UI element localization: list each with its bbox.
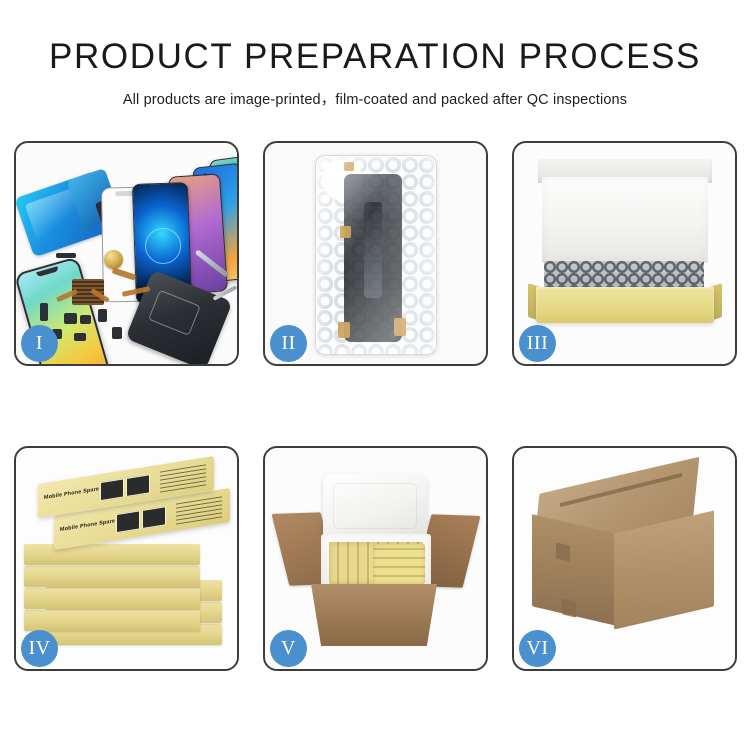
- step-badge-4: IV: [21, 630, 58, 667]
- camera-lens-icon: [104, 250, 123, 269]
- process-step-panel-3: III Open kraft box with white foam sheet…: [512, 141, 737, 366]
- stacked-box-icon: [24, 588, 200, 609]
- inner-kraft-boxes-icon: [373, 544, 425, 584]
- small-component-icon: [40, 303, 48, 321]
- carton-front-icon: [311, 584, 437, 646]
- box-spec-lines-icon: [160, 463, 206, 492]
- page-title: PRODUCT PREPARATION PROCESS: [0, 38, 750, 77]
- step-badge-2: II: [270, 325, 307, 362]
- box-spec-lines-icon: [176, 495, 222, 524]
- step-badge-1: I: [21, 325, 58, 362]
- bubble-wrap-bag-icon: [315, 155, 437, 355]
- stacked-box-icon: [24, 544, 200, 565]
- step-badge-3: III: [519, 325, 556, 362]
- small-component-icon: [98, 309, 107, 322]
- stacked-box-icon: [24, 610, 200, 631]
- box-window-icon: [126, 474, 150, 497]
- box-window-icon: [142, 506, 166, 529]
- bubble-wrapped-contents-icon: [544, 261, 704, 289]
- process-step-panel-2: II Single part sealed in a bubble wrap b…: [263, 141, 488, 366]
- process-step-panel-4: Mobile Phone Spare Parts Mobile Phone Sp…: [14, 446, 239, 671]
- page-header: PRODUCT PREPARATION PROCESS All products…: [0, 0, 750, 109]
- product-preparation-process-page: PRODUCT PREPARATION PROCESS All products…: [0, 0, 750, 750]
- box-window-icon: [116, 510, 140, 533]
- small-component-icon: [80, 315, 91, 324]
- foam-sheet-icon: [542, 177, 708, 263]
- small-component-icon: [112, 327, 122, 339]
- process-step-panel-6: VI Sealed brown corrugated shipping cart…: [512, 446, 737, 671]
- step-badge-5: V: [270, 630, 307, 667]
- carton-tape-icon: [556, 542, 570, 561]
- small-component-icon: [64, 313, 77, 324]
- box-window-icon: [100, 478, 124, 501]
- process-step-panel-1: I Mobile phone LCD screens, tempered gla…: [14, 141, 239, 366]
- kraft-box-front-icon: [536, 287, 714, 323]
- bag-gloss-overlay: [316, 156, 436, 354]
- carton-tape-icon: [562, 598, 576, 617]
- small-component-icon: [56, 253, 76, 258]
- process-steps-grid: I Mobile phone LCD screens, tempered gla…: [14, 141, 736, 671]
- page-subtitle: All products are image-printed，film-coat…: [0, 88, 750, 109]
- small-component-icon: [74, 333, 86, 341]
- step-badge-6: VI: [519, 630, 556, 667]
- stacked-box-icon: [24, 566, 200, 587]
- styrofoam-lid-icon: [323, 474, 427, 540]
- box-stack-icon: Mobile Phone Spare Parts Mobile Phone Sp…: [24, 470, 230, 650]
- process-step-panel-5: V Shipping carton loaded with boxes and …: [263, 446, 488, 671]
